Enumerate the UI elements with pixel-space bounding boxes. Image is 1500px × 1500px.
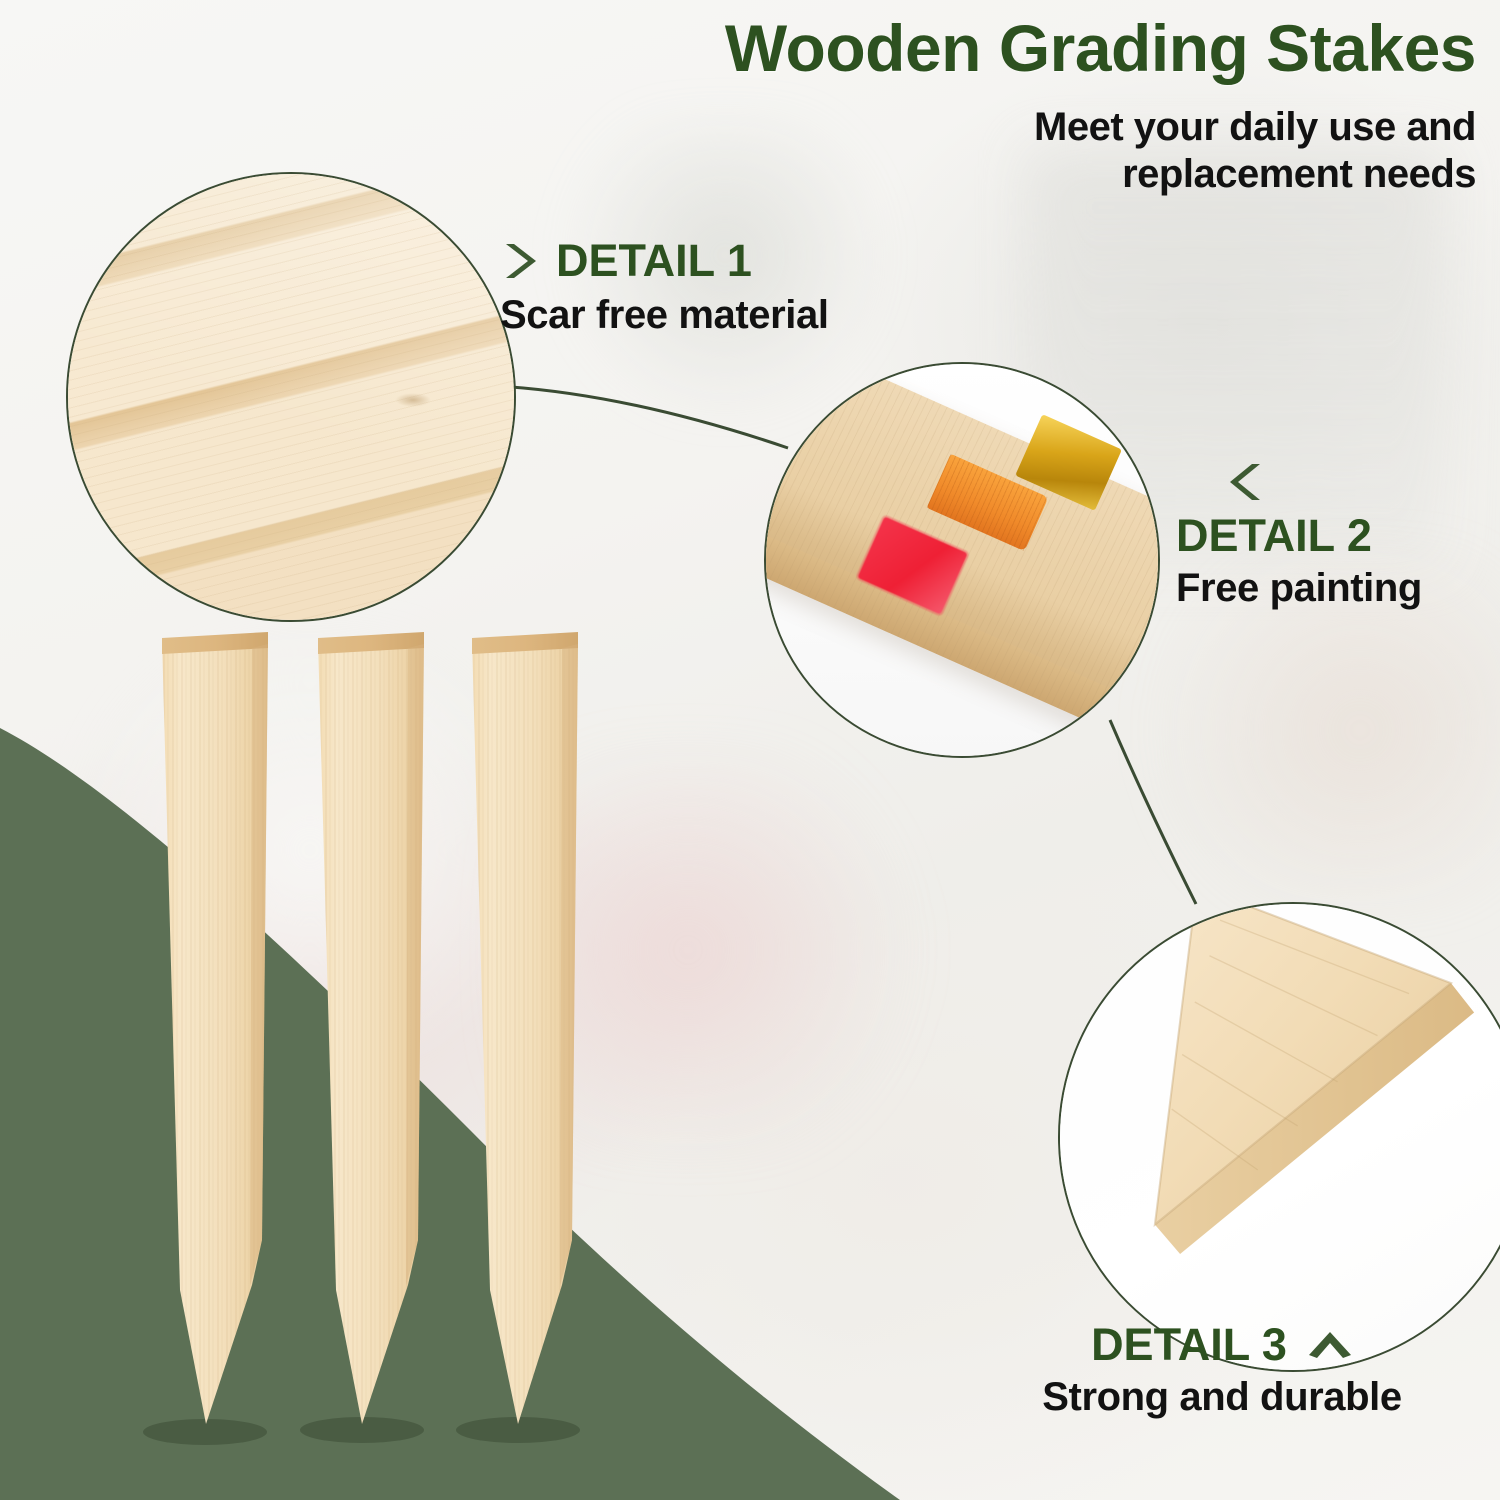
stake-2 (318, 632, 424, 1424)
stake-1 (162, 632, 268, 1424)
infographic-canvas: Wooden Grading Stakes Meet your daily us… (0, 0, 1500, 1500)
stakes-group (0, 0, 1500, 1500)
stake-3 (472, 632, 578, 1424)
